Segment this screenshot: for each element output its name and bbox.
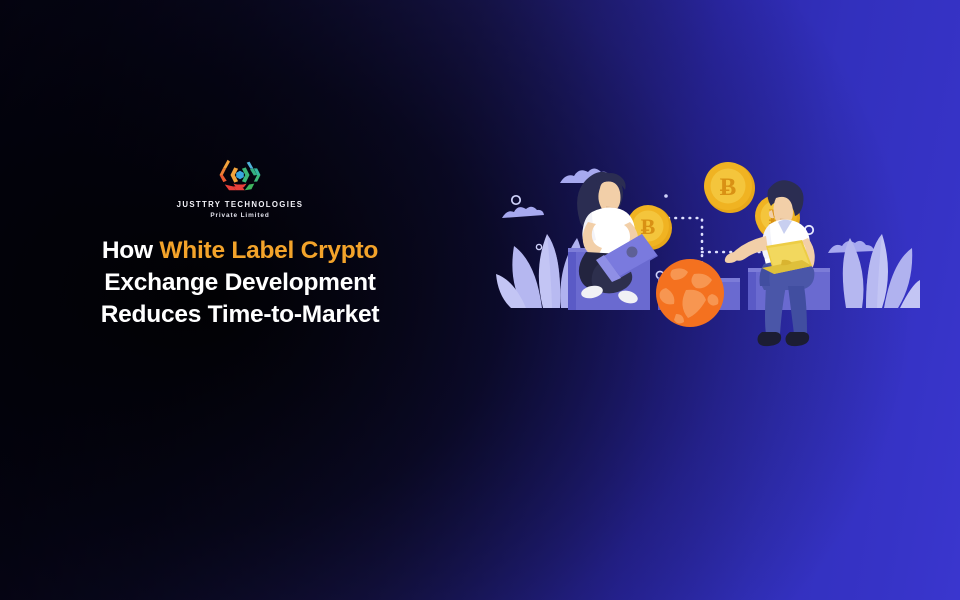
banner-root: JUSTTRY TECHNOLOGIES Private Limited How… xyxy=(0,0,960,600)
cloud-icon xyxy=(502,207,544,218)
justtry-hexagon-logo-icon xyxy=(212,155,268,195)
page-title: How White Label Crypto Exchange Developm… xyxy=(0,235,480,332)
bitcoin-coin-icon: Ƀ xyxy=(704,162,755,213)
headline-part2: Exchange Development Reduces Time-to-Mar… xyxy=(101,269,380,328)
brand-logo[interactable]: JUSTTRY TECHNOLOGIES Private Limited xyxy=(165,155,315,219)
logo-company-subtitle: Private Limited xyxy=(165,212,315,219)
logo-company-name: JUSTTRY TECHNOLOGIES xyxy=(165,200,315,210)
globe-icon xyxy=(656,259,724,327)
ring-icon xyxy=(512,196,520,204)
svg-text:Ƀ: Ƀ xyxy=(720,174,737,201)
headline-part1: How xyxy=(102,237,160,264)
dot-icon xyxy=(664,194,668,198)
headline-highlight: White Label Crypto xyxy=(159,237,378,264)
hero-text-column: JUSTTRY TECHNOLOGIES Private Limited How… xyxy=(0,155,480,332)
crypto-scene-svg: Ƀ Ƀ Ƀ xyxy=(480,160,920,405)
ring-icon xyxy=(536,244,541,249)
hero-illustration: Ƀ Ƀ Ƀ xyxy=(480,160,920,405)
